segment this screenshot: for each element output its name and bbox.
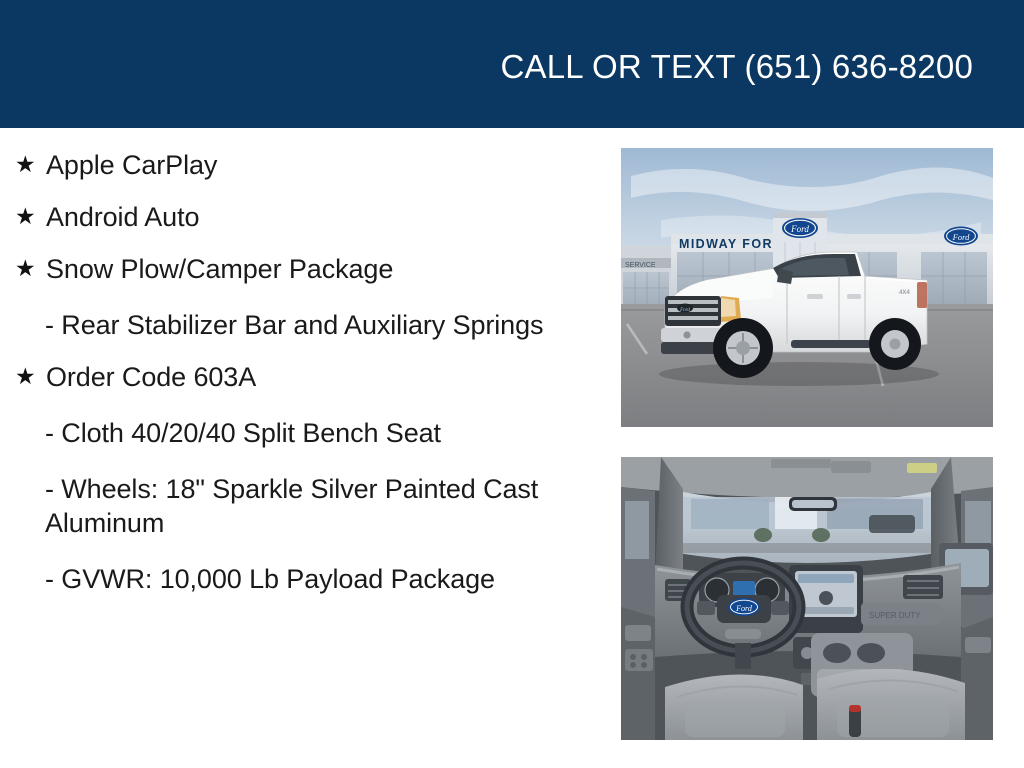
list-item-sub: - Rear Stabilizer Bar and Auxiliary Spri… (0, 308, 600, 342)
door-handle (625, 625, 651, 641)
service-sign-text: SERVICE (625, 262, 656, 269)
list-item: ★ Snow Plow/Camper Package (0, 252, 600, 286)
feature-sub-label: - Wheels: 18" Sparkle Silver Painted Cas… (45, 472, 560, 540)
feature-label: Order Code 603A (46, 360, 256, 394)
four-by-four-badge: 4X4 (899, 290, 910, 296)
star-icon: ★ (15, 148, 46, 181)
header-banner: CALL OR TEXT (651) 636-8200 (0, 0, 1024, 128)
svg-text:Ford: Ford (735, 604, 753, 613)
feature-sub-label: - GVWR: 10,000 Lb Payload Package (45, 562, 560, 596)
feature-label: Android Auto (46, 200, 199, 234)
list-item: ★ Apple CarPlay (0, 148, 600, 182)
star-icon: ★ (15, 360, 46, 393)
cup-holder (823, 643, 851, 663)
vehicle-exterior-photo[interactable]: SERVICE MIDWAY FORD Ford (621, 148, 993, 427)
svg-text:Ford: Ford (952, 232, 970, 242)
list-item: ★ Android Auto (0, 200, 600, 234)
feature-label: Apple CarPlay (46, 148, 217, 182)
rear-wheel (869, 318, 921, 370)
front-wheel (713, 318, 773, 378)
vehicle-features-list: ★ Apple CarPlay ★ Android Auto ★ Snow Pl… (0, 128, 600, 596)
call-or-text-phone-label[interactable]: CALL OR TEXT (651) 636-8200 (500, 50, 973, 84)
trim-badge-text: SUPER DUTY (869, 611, 921, 620)
feature-sub-label: - Rear Stabilizer Bar and Auxiliary Spri… (45, 308, 560, 342)
dealership-name-sign: MIDWAY FORD (679, 237, 783, 251)
exterior-photo-illustration: SERVICE MIDWAY FORD Ford (621, 148, 993, 427)
star-icon: ★ (15, 200, 46, 233)
feature-label: Snow Plow/Camper Package (46, 252, 393, 286)
svg-text:Ford: Ford (790, 224, 809, 234)
cup-holder (857, 643, 885, 663)
list-item-sub: - Wheels: 18" Sparkle Silver Painted Cas… (0, 472, 600, 540)
window-switch-panel (625, 649, 653, 671)
feature-sub-label: - Cloth 40/20/40 Split Bench Seat (45, 416, 560, 450)
list-item-sub: - GVWR: 10,000 Lb Payload Package (0, 562, 600, 596)
list-item-sub: - Cloth 40/20/40 Split Bench Seat (0, 416, 600, 450)
vehicle-interior-photo[interactable]: SUPER DUTY Ford (621, 457, 993, 740)
door-handle (965, 637, 991, 653)
interior-photo-illustration: SUPER DUTY Ford (621, 457, 993, 740)
list-item: ★ Order Code 603A (0, 360, 600, 394)
star-icon: ★ (15, 252, 46, 285)
ford-oval-logo-icon: Ford (679, 308, 690, 313)
shifter-accent (849, 705, 861, 712)
